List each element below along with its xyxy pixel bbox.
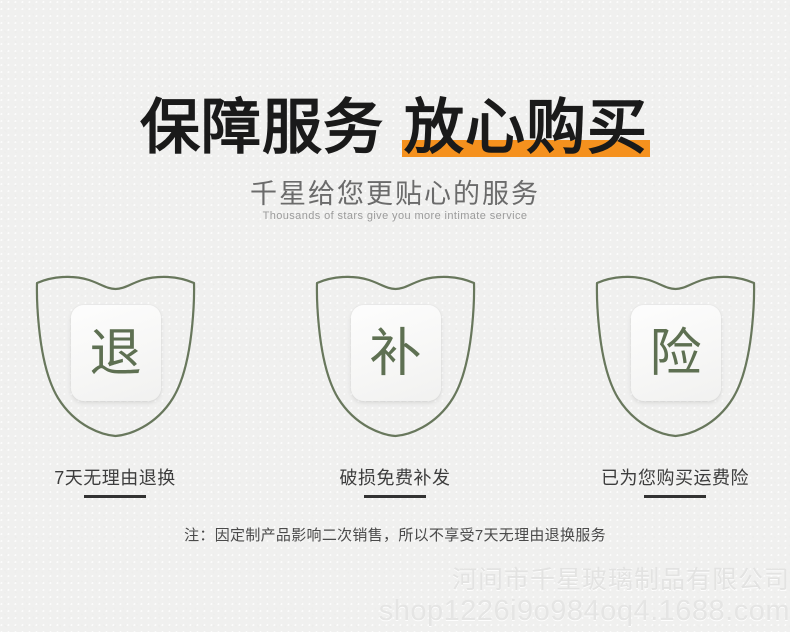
feature-caption: 7天无理由退换	[54, 464, 176, 490]
title-second-phrase: 放心购买	[402, 96, 650, 159]
title-second-phrase-text: 放心购买	[404, 94, 648, 161]
watermark: 河间市千星玻璃制品有限公司 shop1226i9o984oq4.1688.com	[379, 566, 790, 628]
title-first-phrase: 保障服务	[140, 96, 384, 159]
promo-page: 保障服务放心购买 千星给您更贴心的服务 Thousands of stars g…	[0, 0, 790, 632]
feature-glyph: 退	[89, 328, 141, 380]
feature-caption-wrap: 7天无理由退换	[54, 464, 176, 498]
feature-caption-wrap: 已为您购买运费险	[601, 464, 749, 498]
feature-glyph: 险	[649, 328, 701, 380]
shield-badge: 险	[593, 265, 758, 440]
caption-underline	[364, 495, 426, 498]
caption-underline	[644, 495, 706, 498]
subtitle-en: Thousands of stars give you more intimat…	[0, 210, 790, 222]
feature-caption: 破损免费补发	[340, 464, 451, 490]
shield-badge: 补	[313, 265, 478, 440]
subtitle-cn: 千星给您更贴心的服务	[0, 172, 790, 211]
feature-list: 退 7天无理由退换 补 破损免费补发	[0, 265, 790, 498]
watermark-company: 河间市千星玻璃制品有限公司	[379, 566, 790, 595]
feature-glyph: 补	[369, 328, 421, 380]
feature-caption-wrap: 破损免费补发	[340, 464, 451, 498]
disclaimer-note: 注：因定制产品影响二次销售，所以不享受7天无理由退换服务	[0, 524, 790, 545]
shield-badge: 退	[33, 265, 198, 440]
title-text: 保障服务放心购买	[140, 96, 650, 159]
glyph-card: 补	[351, 305, 441, 401]
feature-item: 险 已为您购买运费险	[585, 265, 765, 498]
glyph-card: 险	[631, 305, 721, 401]
feature-item: 补 破损免费补发	[305, 265, 485, 498]
glyph-card: 退	[71, 305, 161, 401]
feature-item: 退 7天无理由退换	[25, 265, 205, 498]
caption-underline	[84, 495, 146, 498]
feature-caption: 已为您购买运费险	[601, 464, 749, 490]
watermark-shop-url: shop1226i9o984oq4.1688.com	[379, 595, 790, 628]
page-title: 保障服务放心购买	[0, 96, 790, 159]
